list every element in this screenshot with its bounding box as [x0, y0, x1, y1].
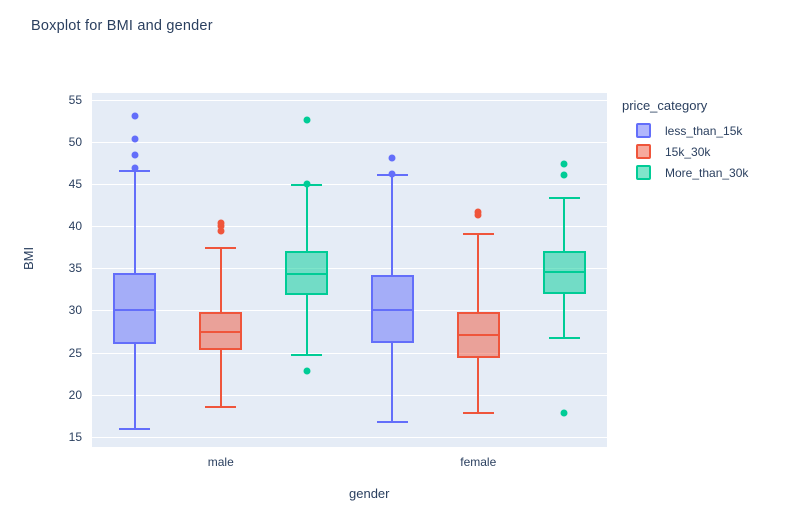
x-tick-label: male: [208, 455, 234, 469]
y-tick-label: 55: [22, 93, 82, 107]
legend-swatch-icon: [636, 165, 651, 180]
legend-item-more_than_30k[interactable]: More_than_30k: [636, 162, 787, 183]
legend-items: less_than_15k15k_30kMore_than_30k: [622, 120, 787, 183]
legend: price_category less_than_15k15k_30kMore_…: [622, 98, 787, 183]
y-axis-tick-labels: 152025303540455055: [0, 0, 795, 522]
y-tick-label: 25: [22, 346, 82, 360]
y-tick-label: 50: [22, 135, 82, 149]
boxplot-figure: Boxplot for BMI and gender 1520253035404…: [0, 0, 795, 522]
legend-swatch-icon: [636, 123, 651, 138]
legend-item-label: More_than_30k: [665, 166, 748, 180]
y-tick-label: 45: [22, 177, 82, 191]
legend-item-label: less_than_15k: [665, 124, 742, 138]
y-tick-label: 20: [22, 388, 82, 402]
y-tick-label: 40: [22, 219, 82, 233]
legend-title: price_category: [622, 98, 787, 113]
y-axis-title: BMI: [21, 247, 36, 270]
x-axis-title: gender: [349, 486, 389, 501]
y-tick-label: 30: [22, 303, 82, 317]
y-tick-label: 15: [22, 430, 82, 444]
legend-item-label: 15k_30k: [665, 145, 710, 159]
x-tick-label: female: [460, 455, 496, 469]
legend-item-less_than_15k[interactable]: less_than_15k: [636, 120, 787, 141]
legend-item-15k_30k[interactable]: 15k_30k: [636, 141, 787, 162]
legend-swatch-icon: [636, 144, 651, 159]
